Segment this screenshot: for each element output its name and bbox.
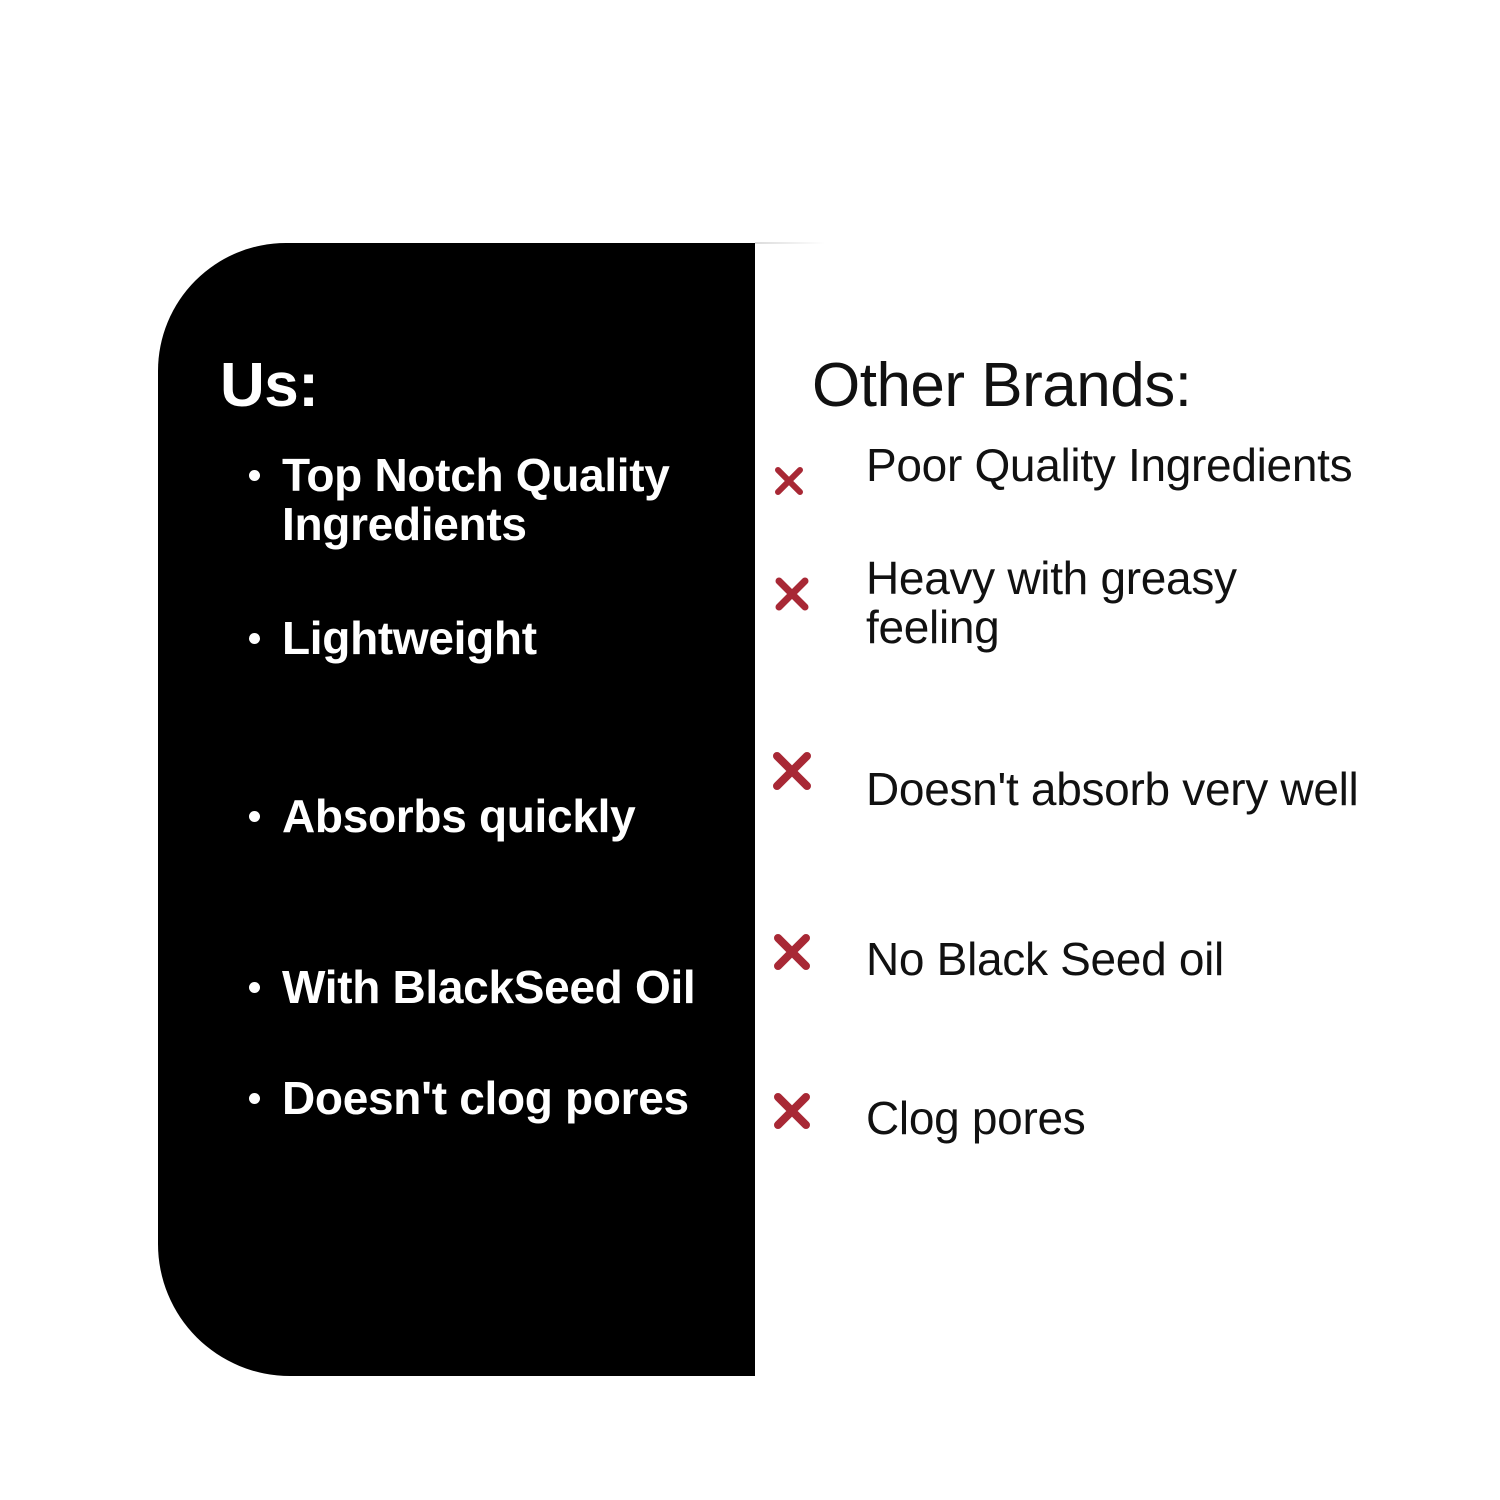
other-item-label: Doesn't absorb very well bbox=[866, 765, 1366, 814]
other-item-label: Poor Quality Ingredients bbox=[866, 441, 1366, 490]
us-benefit-list: Top Notch Quality Ingredients Lightweigh… bbox=[240, 451, 710, 1123]
us-column-title: Us: bbox=[220, 355, 318, 417]
list-item: Clog pores bbox=[755, 1094, 1400, 1143]
list-item: Doesn't clog pores bbox=[240, 1074, 710, 1123]
x-mark-icon bbox=[773, 575, 811, 613]
other-item-label: Heavy with greasy feeling bbox=[866, 554, 1366, 652]
us-item-label: Top Notch Quality Ingredients bbox=[282, 449, 670, 550]
x-mark-icon bbox=[770, 749, 814, 793]
bullet-dot-icon bbox=[249, 633, 260, 644]
list-item: Absorbs quickly bbox=[240, 792, 710, 841]
list-item: Lightweight bbox=[240, 614, 710, 663]
x-mark-icon bbox=[771, 931, 813, 973]
us-item-label: With BlackSeed Oil bbox=[282, 961, 695, 1013]
list-item: With BlackSeed Oil bbox=[240, 963, 710, 1012]
list-item: No Black Seed oil bbox=[755, 935, 1400, 984]
bullet-dot-icon bbox=[249, 1093, 260, 1104]
x-mark-icon bbox=[773, 465, 805, 497]
us-item-label: Lightweight bbox=[282, 612, 537, 664]
other-brands-column: Other Brands: Poor Quality Ingredients H… bbox=[755, 243, 1400, 1376]
other-brands-column-title: Other Brands: bbox=[812, 355, 1191, 417]
bullet-dot-icon bbox=[249, 811, 260, 822]
bullet-dot-icon bbox=[249, 982, 260, 993]
us-item-label: Absorbs quickly bbox=[282, 790, 635, 842]
comparison-infographic: Us: Top Notch Quality Ingredients Lightw… bbox=[0, 0, 1500, 1500]
x-mark-icon bbox=[771, 1090, 813, 1132]
other-item-label: No Black Seed oil bbox=[866, 935, 1366, 984]
bullet-dot-icon bbox=[249, 470, 260, 481]
list-item: Top Notch Quality Ingredients bbox=[240, 451, 710, 549]
list-item: Doesn't absorb very well bbox=[755, 765, 1400, 814]
us-item-label: Doesn't clog pores bbox=[282, 1072, 689, 1124]
list-item: Poor Quality Ingredients bbox=[755, 441, 1400, 490]
list-item: Heavy with greasy feeling bbox=[755, 554, 1400, 652]
other-item-label: Clog pores bbox=[866, 1094, 1366, 1143]
other-brands-drawback-list: Poor Quality Ingredients Heavy with grea… bbox=[755, 441, 1400, 1143]
us-column: Us: Top Notch Quality Ingredients Lightw… bbox=[158, 243, 755, 1376]
